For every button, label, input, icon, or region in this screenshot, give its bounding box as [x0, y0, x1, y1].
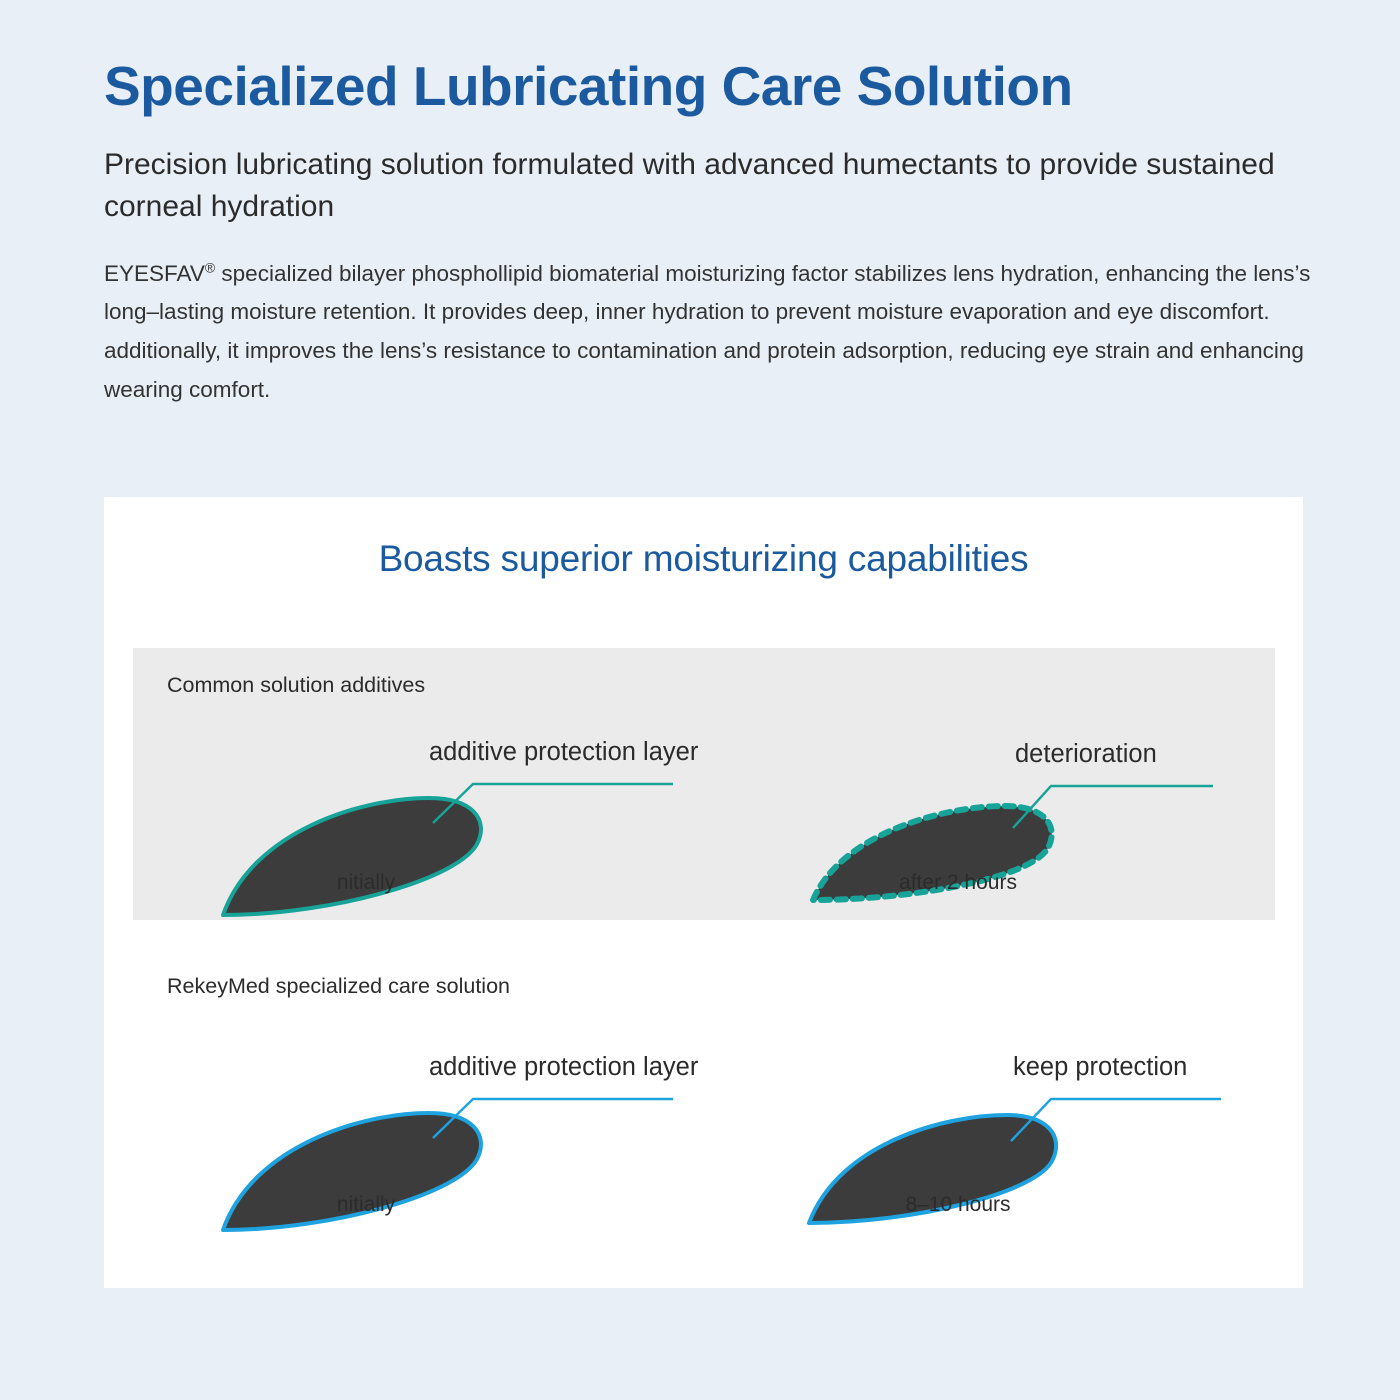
- lens-diagram-rekeymed-8-10-hours: [713, 1025, 1273, 1190]
- lens-caption-common-after-2-hours: after 2 hours: [743, 871, 1173, 895]
- panel-label: RekeyMed specialized care solution: [167, 974, 510, 999]
- callout-label-rekeymed-8-10-hours: keep protection: [1013, 1053, 1187, 1082]
- brand-name: EYESFAV: [104, 261, 205, 286]
- card-heading: Boasts superior moisturizing capabilitie…: [104, 538, 1303, 580]
- lens-diagram-common-after-2-hours: [713, 710, 1273, 875]
- callout-label-rekeymed-initial: additive protection layer: [429, 1053, 698, 1082]
- body-text: specialized bilayer phosphollipid biomat…: [104, 261, 1310, 402]
- diagram-cell-rekeymed-8-10-hours: keep protection 8–10 hours: [713, 1025, 1273, 1230]
- diagram-cell-common-after-2-hours: deterioration after 2 hours: [713, 710, 1273, 915]
- feature-card: Boasts superior moisturizing capabilitie…: [104, 497, 1303, 1288]
- diagram-cell-rekeymed-initial: additive protection layer nitially: [133, 1025, 693, 1230]
- lens-caption-rekeymed-8-10-hours: 8–10 hours: [743, 1193, 1173, 1217]
- page-title: Specialized Lubricating Care Solution: [104, 56, 1324, 118]
- callout-label-common-initial: additive protection layer: [429, 738, 698, 767]
- lens-diagram-rekeymed-initial: [133, 1025, 693, 1190]
- page-subtitle: Precision lubricating solution formulate…: [104, 144, 1324, 229]
- diagram-cell-common-initial: additive protection layer nitially: [133, 710, 693, 915]
- registered-trademark-icon: ®: [205, 259, 215, 275]
- callout-label-common-after-2-hours: deterioration: [1015, 740, 1157, 769]
- page-body-paragraph: EYESFAV® specialized bilayer phosphollip…: [104, 255, 1319, 410]
- lens-diagram-common-initial: [133, 710, 693, 875]
- page-header: Specialized Lubricating Care Solution Pr…: [104, 56, 1324, 410]
- panel-label: Common solution additives: [167, 673, 425, 698]
- panel-rekeymed-specialized-care-solution: RekeyMed specialized care solution addit…: [133, 949, 1275, 1249]
- lens-caption-common-initial: nitially: [151, 871, 581, 895]
- lens-caption-rekeymed-initial: nitially: [151, 1193, 581, 1217]
- panel-common-solution-additives: Common solution additives additive prote…: [133, 648, 1275, 920]
